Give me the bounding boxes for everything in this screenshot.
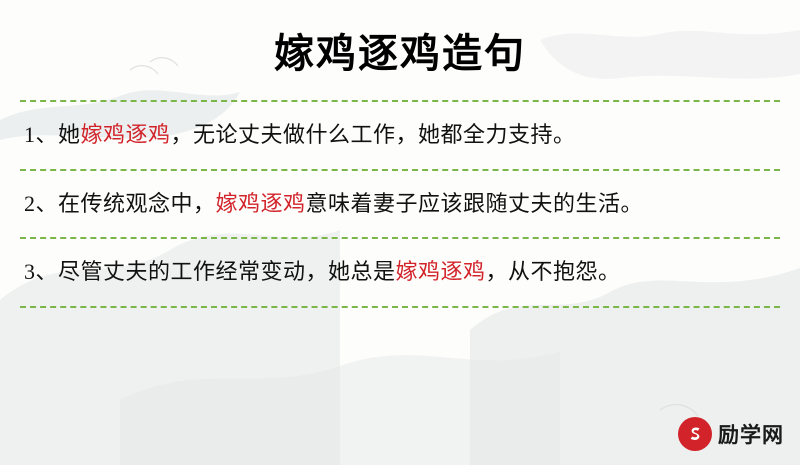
list-item: 2、在传统观念中，嫁鸡逐鸡意味着妻子应该跟随丈夫的生活。 — [18, 171, 782, 238]
sentence-part: 她 — [58, 122, 81, 147]
sentence-index: 2、 — [24, 191, 58, 216]
document-content: 嫁鸡逐鸡造句 1、她嫁鸡逐鸡，无论丈夫做什么工作，她都全力支持。 2、在传统观念… — [0, 0, 800, 465]
sentence-index: 3、 — [24, 259, 58, 284]
sentence-part: ，从不抱怨。 — [486, 259, 621, 284]
keyword-highlight: 嫁鸡逐鸡 — [81, 122, 171, 147]
keyword-highlight: 嫁鸡逐鸡 — [396, 259, 486, 284]
list-item: 1、她嫁鸡逐鸡，无论丈夫做什么工作，她都全力支持。 — [18, 102, 782, 169]
keyword-highlight: 嫁鸡逐鸡 — [216, 191, 306, 216]
sentence-part: 尽管丈夫的工作经常变动，她总是 — [58, 259, 396, 284]
sentence-part: ，无论丈夫做什么工作，她都全力支持。 — [171, 122, 576, 147]
sentence-index: 1、 — [24, 122, 58, 147]
sentence-part: 在传统观念中， — [58, 191, 216, 216]
list-item: 3、尽管丈夫的工作经常变动，她总是嫁鸡逐鸡，从不抱怨。 — [18, 239, 782, 306]
page-title: 嫁鸡逐鸡造句 — [18, 0, 782, 100]
sentence-part: 意味着妻子应该跟随丈夫的生活。 — [306, 191, 644, 216]
brand-swirl-icon — [678, 417, 712, 451]
watermark-logo: 励学网 — [678, 417, 784, 451]
divider-bottom — [20, 306, 780, 308]
document-page: 嫁鸡逐鸡造句 1、她嫁鸡逐鸡，无论丈夫做什么工作，她都全力支持。 2、在传统观念… — [0, 0, 800, 465]
brand-name: 励学网 — [718, 419, 784, 449]
